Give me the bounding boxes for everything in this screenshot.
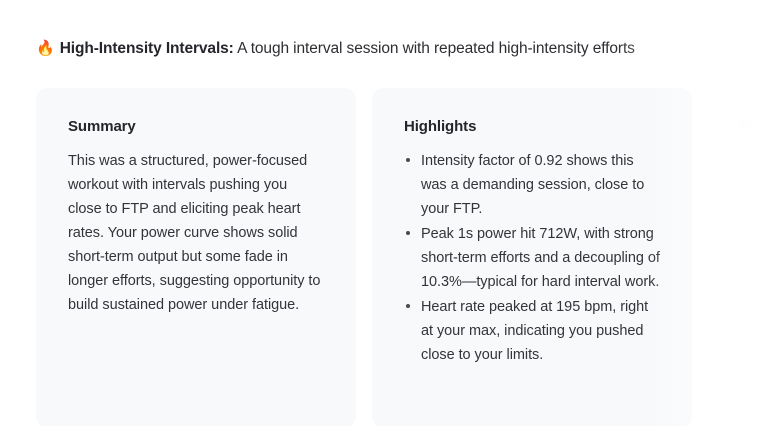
list-item: Work longer threshold efforts. — [740, 174, 767, 198]
card-title-focus-areas: Focus Areas — [740, 118, 767, 135]
list-item-text: Heart rate peaked at 195 bpm, right at y… — [421, 299, 648, 363]
list-item-text: Build sustained power under fatigue. — [757, 153, 767, 169]
card-title-highlights: Highlights — [404, 118, 660, 135]
header-text-line: 🔥High-Intensity Intervals: A tough inter… — [36, 34, 635, 64]
card-title-summary: Summary — [68, 118, 324, 135]
bullet-dot-icon — [406, 304, 410, 308]
list-item-text: Peak 1s power hit 712W, with strong shor… — [421, 226, 660, 290]
bullet-dot-icon — [742, 183, 746, 187]
focus-areas-list: Build sustained power under fatigue. Wor… — [740, 149, 767, 198]
header-fade-overlay — [617, 34, 767, 64]
card-summary: Summary This was a structured, power-foc… — [36, 88, 356, 426]
page-subtitle: A tough interval session with repeated h… — [234, 40, 635, 57]
bullet-dot-icon — [406, 231, 410, 235]
list-item: Intensity factor of 0.92 shows this was … — [404, 149, 660, 221]
list-item-text: Work longer threshold efforts. — [757, 178, 767, 194]
insight-panel: 🔥High-Intensity Intervals: A tough inter… — [0, 0, 767, 426]
list-item: Peak 1s power hit 712W, with strong shor… — [404, 222, 660, 294]
page-title: High-Intensity Intervals: — [60, 40, 234, 57]
card-body-summary: This was a structured, power-focused wor… — [68, 149, 324, 317]
card-strip[interactable]: Summary This was a structured, power-foc… — [36, 88, 767, 426]
list-item: Heart rate peaked at 195 bpm, right at y… — [404, 295, 660, 367]
fire-icon: 🔥 — [36, 34, 55, 64]
card-highlights: Highlights Intensity factor of 0.92 show… — [372, 88, 692, 426]
highlights-list: Intensity factor of 0.92 shows this was … — [404, 149, 660, 367]
bullet-dot-icon — [406, 158, 410, 162]
card-focus-areas: Focus Areas Build sustained power under … — [708, 88, 767, 426]
bullet-dot-icon — [742, 158, 746, 162]
header-row: 🔥High-Intensity Intervals: A tough inter… — [0, 34, 767, 64]
list-item: Build sustained power under fatigue. — [740, 149, 767, 173]
list-item-text: Intensity factor of 0.92 shows this was … — [421, 153, 644, 217]
